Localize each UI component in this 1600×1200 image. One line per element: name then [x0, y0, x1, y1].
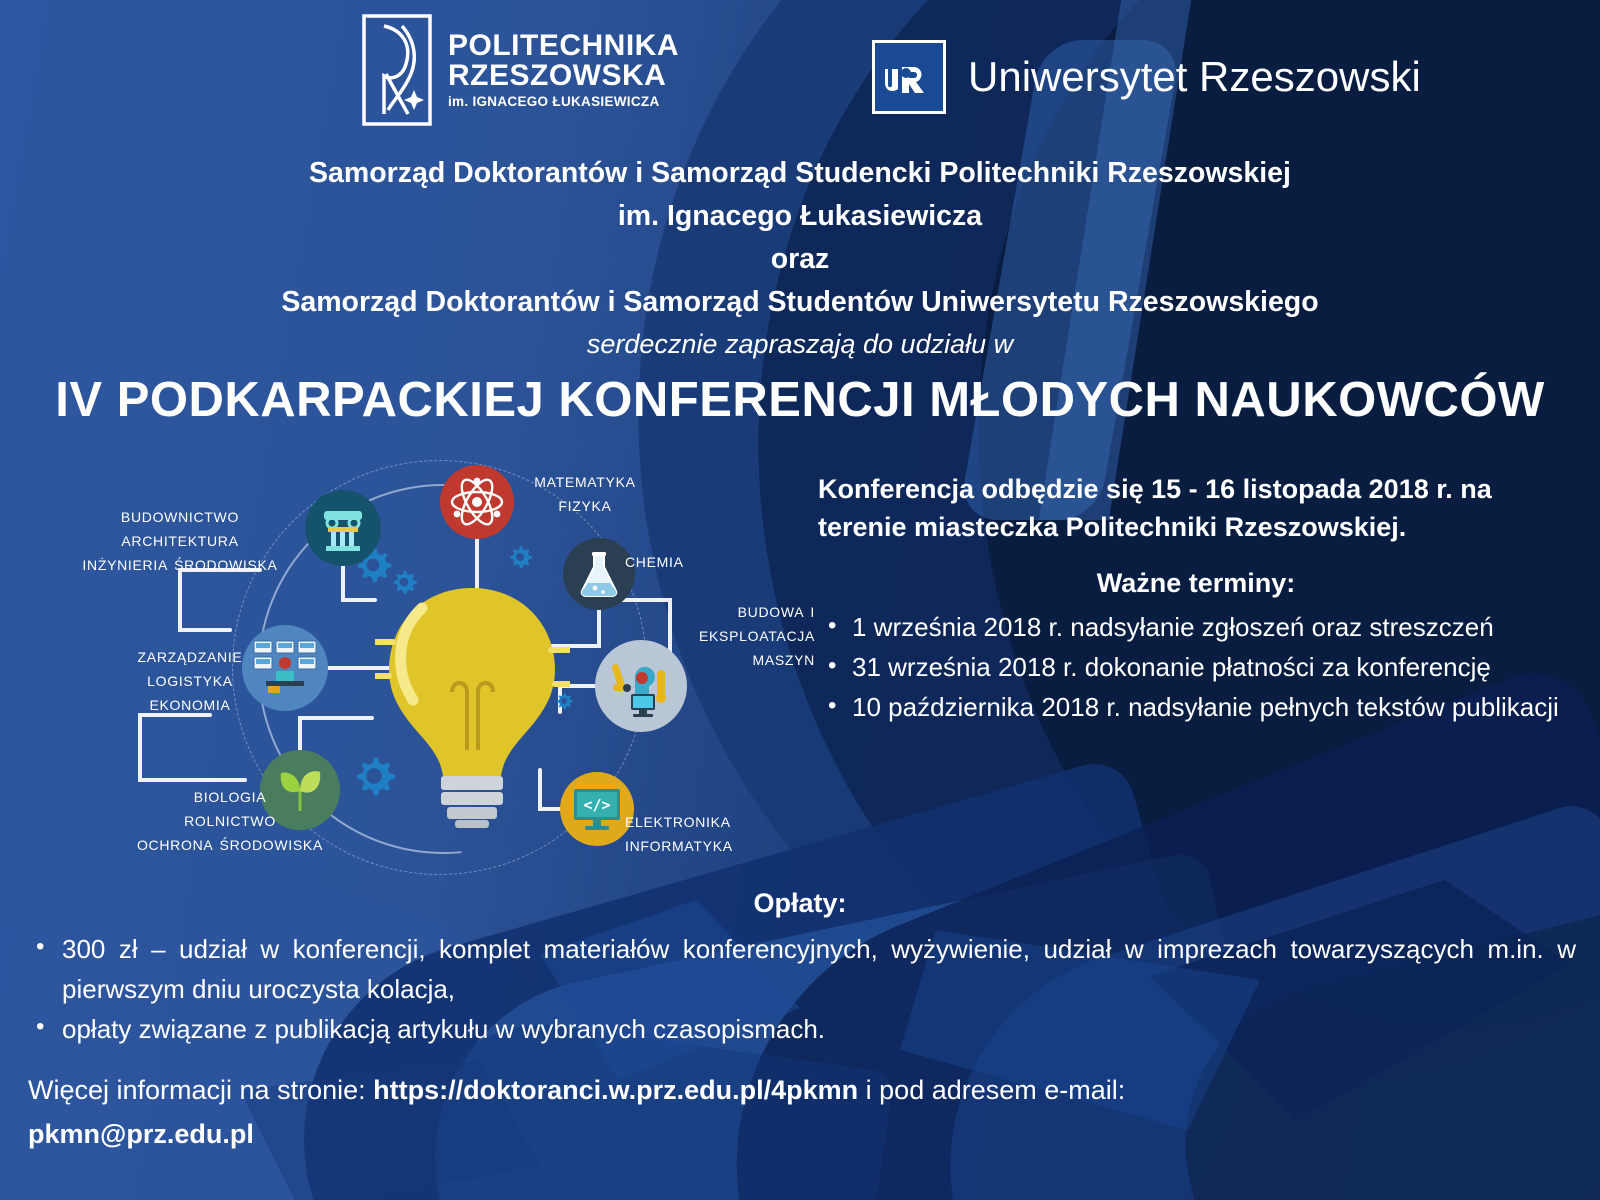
conference-date-location: Konferencja odbędzie się 15 - 16 listopa… [818, 470, 1574, 546]
fee-item: opłaty związane z publikacją artykułu w … [24, 1009, 1576, 1049]
conference-details: Konferencja odbędzie się 15 - 16 listopa… [818, 470, 1574, 727]
contact-middle: i pod adresem e-mail: [858, 1075, 1125, 1105]
label-chemia: Chemia [625, 550, 785, 574]
ur-monogram-icon [872, 40, 946, 114]
label-budownictwo-line-3: Inżynieria Środowiska [35, 553, 325, 577]
fees-list: 300 zł – udział w konferencji, komplet m… [24, 929, 1576, 1049]
organizer-line-3: oraz [0, 238, 1600, 281]
label-budownictwo-line-2: Architektura [35, 529, 325, 553]
invitation-line: serdecznie zapraszają do udziału w [0, 324, 1600, 364]
deadlines-heading: Ważne terminy: [818, 568, 1574, 599]
fee-item: 300 zł – udział w konferencji, komplet m… [24, 929, 1576, 1009]
conference-poster: POLITECHNIKA RZESZOWSKA im. IGNACEGO ŁUK… [0, 0, 1600, 1200]
fees-section: Opłaty: 300 zł – udział w konferencji, k… [24, 888, 1576, 1049]
label-biologia-line-3: Ochrona Środowiska [85, 833, 375, 857]
label-matematyka-line-1: Matematyka [475, 470, 695, 494]
conference-email-link[interactable]: pkmn@prz.edu.pl [28, 1112, 1576, 1156]
label-elektronika-line-1: Elektronika [625, 810, 815, 834]
label-zarzadzanie-line-3: Ekonomia [80, 693, 300, 717]
organizer-line-2: im. Ignacego Łukasiewicza [0, 195, 1600, 238]
prz-line-1: POLITECHNIKA [448, 31, 679, 61]
contact-prefix: Więcej informacji na stronie: [28, 1075, 373, 1105]
lightbulb-icon [375, 580, 570, 830]
prz-line-2: RZESZOWSKA [448, 61, 679, 91]
label-biologia-line-1: Biologia [85, 785, 375, 809]
label-zarzadzanie: Zarządzanie Logistyka Ekonomia [80, 645, 300, 717]
label-elektronika-line-2: Informatyka [625, 834, 815, 858]
deadline-item: 31 września 2018 r. dokonanie płatności … [818, 647, 1574, 687]
label-biologia: Biologia Rolnictwo Ochrona Środowiska [85, 785, 375, 857]
label-budownictwo: Budownictwo Architektura Inżynieria Środ… [35, 505, 325, 577]
label-zarzadzanie-line-2: Logistyka [80, 669, 300, 693]
label-maszyny-line-2: Eksploatacja [625, 624, 815, 648]
label-budownictwo-line-1: Budownictwo [35, 505, 325, 529]
label-matematyka: Matematyka Fizyka [475, 470, 695, 518]
deadlines-list: 1 września 2018 r. nadsyłanie zgłoszeń o… [818, 607, 1574, 727]
label-maszyny-line-3: Maszyn [625, 648, 815, 672]
deadline-item: 10 października 2018 r. nadsyłanie pełny… [818, 687, 1574, 727]
disciplines-infographic: </> Budownictwo Architektura Inżynieria … [20, 450, 820, 890]
politechnika-rzeszowska-logo: POLITECHNIKA RZESZOWSKA im. IGNACEGO ŁUK… [362, 14, 679, 126]
organizer-line-4: Samorząd Doktorantów i Samorząd Studentó… [0, 281, 1600, 324]
label-elektronika: Elektronika Informatyka [625, 810, 815, 858]
label-maszyny: Budowa i Eksploatacja Maszyn [625, 600, 815, 672]
page-title: IV PODKARPACKIEJ KONFERENCJI MŁODYCH NAU… [0, 372, 1600, 428]
prz-wordmark: POLITECHNIKA RZESZOWSKA im. IGNACEGO ŁUK… [448, 31, 679, 109]
fees-heading: Opłaty: [24, 888, 1576, 919]
deadline-item: 1 września 2018 r. nadsyłanie zgłoszeń o… [818, 607, 1574, 647]
label-zarzadzanie-line-1: Zarządzanie [80, 645, 300, 669]
uniwersytet-rzeszowski-logo: Uniwersytet Rzeszowski [872, 40, 1421, 114]
organizer-line-1: Samorząd Doktorantów i Samorząd Studenck… [0, 152, 1600, 195]
code-monitor-icon: </> [560, 772, 634, 846]
conference-website-link[interactable]: https://doktoranci.w.prz.edu.pl/4pkmn [373, 1075, 858, 1105]
gear-icon [505, 542, 535, 572]
label-biologia-line-2: Rolnictwo [85, 809, 375, 833]
ur-wordmark: Uniwersytet Rzeszowski [968, 53, 1421, 101]
organizers-header: Samorząd Doktorantów i Samorząd Studenck… [0, 152, 1600, 364]
contact-section: Więcej informacji na stronie: https://do… [28, 1068, 1576, 1156]
logo-bar: POLITECHNIKA RZESZOWSKA im. IGNACEGO ŁUK… [0, 0, 1600, 150]
prz-line-3: im. IGNACEGO ŁUKASIEWICZA [448, 95, 679, 109]
prz-monogram-icon [362, 14, 432, 126]
svg-text:</>: </> [583, 796, 610, 814]
label-matematyka-line-2: Fizyka [475, 494, 695, 518]
label-maszyny-line-1: Budowa i [625, 600, 815, 624]
label-chemia-line-1: Chemia [625, 550, 785, 574]
